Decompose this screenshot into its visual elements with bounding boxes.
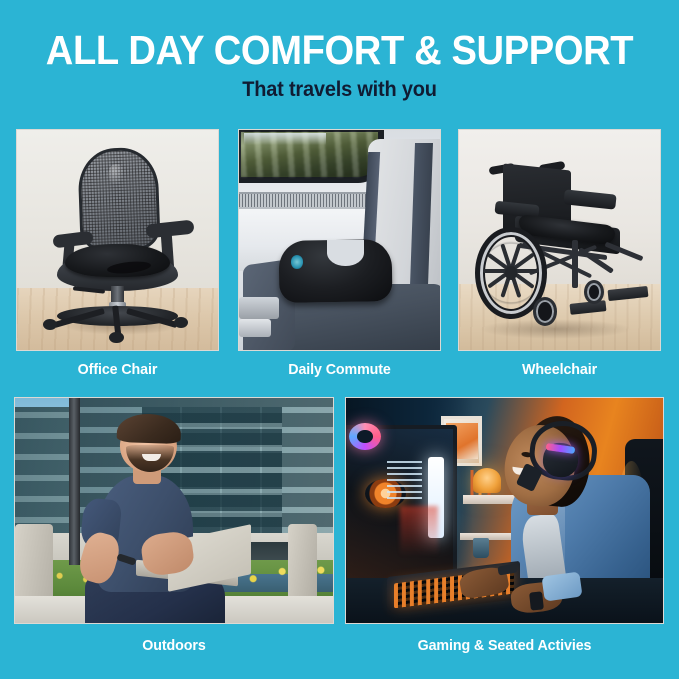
caption-daily-commute: Daily Commute: [243, 361, 436, 378]
photo-daily-commute[interactable]: [238, 129, 441, 351]
side-frame: [572, 240, 578, 288]
metal-rail: [239, 297, 279, 319]
train-window-icon: [238, 129, 384, 183]
ring-light-center: [357, 430, 373, 444]
infographic-canvas: ALL DAY COMFORT & SUPPORT That travels w…: [0, 0, 679, 679]
desk-lamp-icon: [473, 468, 502, 493]
caption-gaming: Gaming & Seated Activies: [353, 637, 656, 654]
wheel-hub: [505, 266, 517, 279]
caster-wheel: [109, 332, 123, 343]
wheelchair-caster-icon: [584, 280, 604, 304]
rgb-light-bars: [387, 459, 422, 500]
brand-logo-icon: [291, 255, 303, 268]
stone-pillar-left: [15, 524, 53, 601]
caster-wheel: [174, 317, 188, 328]
page-subtitle: That travels with you: [17, 78, 662, 101]
lamp-post-icon: [69, 398, 80, 565]
stone-pillar-right: [288, 524, 317, 601]
red-glow: [400, 506, 438, 556]
jacket-cuff: [541, 571, 582, 601]
caption-outdoors: Outdoors: [22, 637, 326, 654]
cushion-cutout: [327, 240, 363, 266]
cup-icon: [473, 538, 489, 558]
wheelchair-shadow: [479, 319, 632, 339]
ventilation-grille: [239, 192, 384, 210]
bracelet-icon: [529, 591, 543, 610]
metal-rail: [239, 319, 271, 337]
caption-office-chair: Office Chair: [21, 361, 214, 378]
photo-gaming[interactable]: [345, 397, 664, 624]
photo-wheelchair[interactable]: [458, 129, 661, 351]
page-title: ALL DAY COMFORT & SUPPORT: [24, 30, 655, 71]
mesh-highlight: [108, 163, 125, 185]
window-sky: [244, 133, 326, 146]
caption-wheelchair: Wheelchair: [463, 361, 656, 378]
photo-outdoors[interactable]: [14, 397, 334, 624]
photo-office-chair[interactable]: [16, 129, 219, 351]
